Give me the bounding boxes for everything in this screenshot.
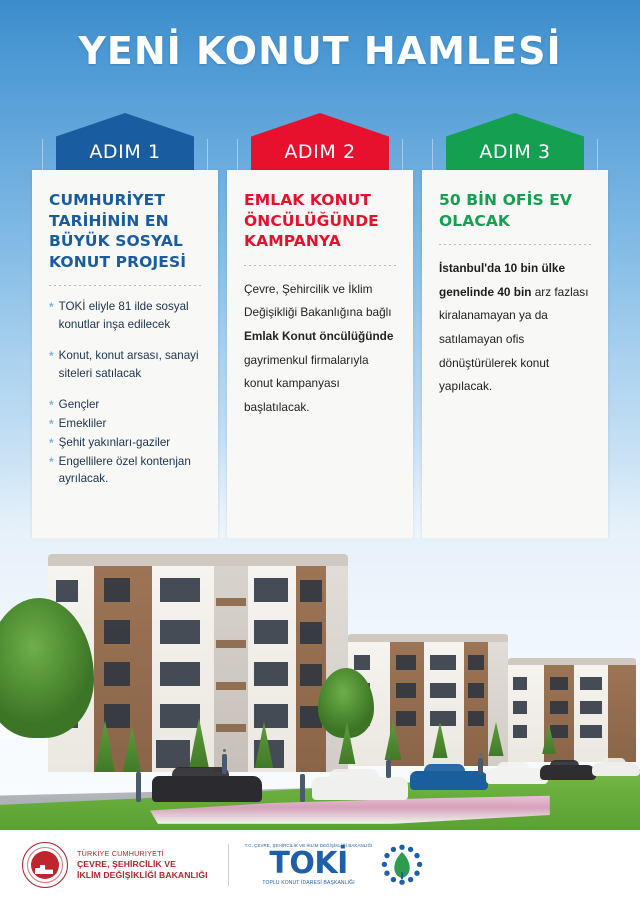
list-item: * Konut, konut arsası, sanayi siteleri s… xyxy=(49,347,201,382)
para-part-bold: Emlak Konut öncülüğünde xyxy=(244,329,393,343)
ministry-line-2: ÇEVRE, ŞEHİRCİLİK VE xyxy=(77,859,208,870)
list-item-label: TOKİ eliyle 81 ilde sosyal konutlar inşa… xyxy=(59,298,201,333)
asterisk-icon: * xyxy=(49,453,54,471)
car xyxy=(540,765,596,780)
pedestrian xyxy=(136,772,141,802)
list-item-label: Şehit yakınları-gaziler xyxy=(59,434,201,451)
list-item-label: Emekliler xyxy=(59,415,201,432)
step-2-header: ADIM 2 xyxy=(227,113,413,175)
car xyxy=(410,771,488,790)
step-3-label: ADIM 3 xyxy=(422,141,608,163)
toki-bottom-text: TOPLU KONUT İDARESİ BAŞKANLIĞI xyxy=(245,881,373,886)
step-2-paragraph: Çevre, Şehircilik ve İklim Değişikliği B… xyxy=(244,278,396,420)
bullet-group-2: * Konut, konut arsası, sanayi siteleri s… xyxy=(49,347,201,382)
asterisk-icon: * xyxy=(49,434,54,452)
pedestrian xyxy=(222,754,227,774)
step-2-label: ADIM 2 xyxy=(227,141,413,163)
list-item: * Engellilere özel kontenjan ayrılacak. xyxy=(49,453,201,488)
step-card-3: ADIM 3 50 BİN OFİS EV OLACAK İstanbul'da… xyxy=(422,113,608,538)
pedestrian xyxy=(386,760,391,778)
car xyxy=(312,777,408,800)
car xyxy=(486,768,548,784)
bullet-group-3: * Gençler * Emekliler * Şehit yakınları-… xyxy=(49,396,201,488)
list-item: * TOKİ eliyle 81 ilde sosyal konutlar in… xyxy=(49,298,201,333)
ministry-logo: TÜRKİYE CUMHURİYETİ ÇEVRE, ŞEHİRCİLİK VE… xyxy=(22,842,208,888)
step-3-header: ADIM 3 xyxy=(422,113,608,175)
steps-container: ADIM 1 CUMHURİYET TARİHİNİN EN BÜYÜK SOS… xyxy=(32,113,608,538)
pedestrian xyxy=(478,758,483,774)
asterisk-icon: * xyxy=(49,298,54,316)
step-1-label: ADIM 1 xyxy=(32,141,218,163)
list-item: * Emekliler xyxy=(49,415,201,433)
step-1-header: ADIM 1 xyxy=(32,113,218,175)
step-3-panel: 50 BİN OFİS EV OLACAK İstanbul'da 10 bin… xyxy=(422,170,608,538)
asterisk-icon: * xyxy=(49,396,54,414)
toki-wordmark: TOKİ xyxy=(245,849,373,879)
footer-divider xyxy=(228,844,229,886)
bullet-group-1: * TOKİ eliyle 81 ilde sosyal konutlar in… xyxy=(49,298,201,333)
list-item: * Şehit yakınları-gaziler xyxy=(49,434,201,452)
car xyxy=(152,776,262,802)
para-part: arz fazlası kiralanamayan ya da satılama… xyxy=(439,285,588,393)
toki-logo: T.C. ÇEVRE, ŞEHİRCİLİK VE İKLİM DEĞİŞİKL… xyxy=(245,844,424,886)
para-part: gayrimenkul firmalarıyla konut kampanyas… xyxy=(244,353,369,414)
list-item-label: Gençler xyxy=(59,396,201,413)
para-part: Çevre, Şehircilik ve İklim Değişikliği B… xyxy=(244,282,392,320)
housing-render-image xyxy=(0,538,640,830)
list-item: * Gençler xyxy=(49,396,201,414)
seal-core xyxy=(31,851,59,879)
ministry-logo-text: TÜRKİYE CUMHURİYETİ ÇEVRE, ŞEHİRCİLİK VE… xyxy=(77,849,208,880)
divider xyxy=(49,285,201,286)
apartment-block-right xyxy=(508,658,636,762)
page-title: YENİ KONUT HAMLESİ xyxy=(0,32,640,72)
ministry-line-3: İKLİM DEĞİŞİKLİĞİ BAKANLIĞI xyxy=(77,870,208,881)
step-1-title: CUMHURİYET TARİHİNİN EN BÜYÜK SOSYAL KON… xyxy=(49,190,201,272)
car xyxy=(592,763,640,776)
pedestrian xyxy=(300,774,305,802)
step-3-paragraph: İstanbul'da 10 bin ülke genelinde 40 bin… xyxy=(439,257,591,399)
toki-logo-text: T.C. ÇEVRE, ŞEHİRCİLİK VE İKLİM DEĞİŞİKL… xyxy=(245,844,373,885)
step-3-title: 50 BİN OFİS EV OLACAK xyxy=(439,190,591,231)
step-card-2: ADIM 2 EMLAK KONUT ÖNCÜLÜĞÜNDE KAMPANYA … xyxy=(227,113,413,538)
ministry-seal-icon xyxy=(22,842,68,888)
list-item-label: Engellilere özel kontenjan ayrılacak. xyxy=(59,453,201,488)
divider xyxy=(439,244,591,245)
step-2-title: EMLAK KONUT ÖNCÜLÜĞÜNDE KAMPANYA xyxy=(244,190,396,252)
toki-tree-emblem-icon xyxy=(381,844,423,886)
asterisk-icon: * xyxy=(49,347,54,365)
asterisk-icon: * xyxy=(49,415,54,433)
poster-root: YENİ KONUT HAMLESİ ADIM 1 CUMHURİYET TAR… xyxy=(0,0,640,900)
footer-logos: TÜRKİYE CUMHURİYETİ ÇEVRE, ŞEHİRCİLİK VE… xyxy=(0,830,640,900)
step-2-panel: EMLAK KONUT ÖNCÜLÜĞÜNDE KAMPANYA Çevre, … xyxy=(227,170,413,538)
divider xyxy=(244,265,396,266)
ministry-line-1: TÜRKİYE CUMHURİYETİ xyxy=(77,849,208,858)
step-1-panel: CUMHURİYET TARİHİNİN EN BÜYÜK SOSYAL KON… xyxy=(32,170,218,538)
list-item-label: Konut, konut arsası, sanayi siteleri sat… xyxy=(59,347,201,382)
step-card-1: ADIM 1 CUMHURİYET TARİHİNİN EN BÜYÜK SOS… xyxy=(32,113,218,538)
